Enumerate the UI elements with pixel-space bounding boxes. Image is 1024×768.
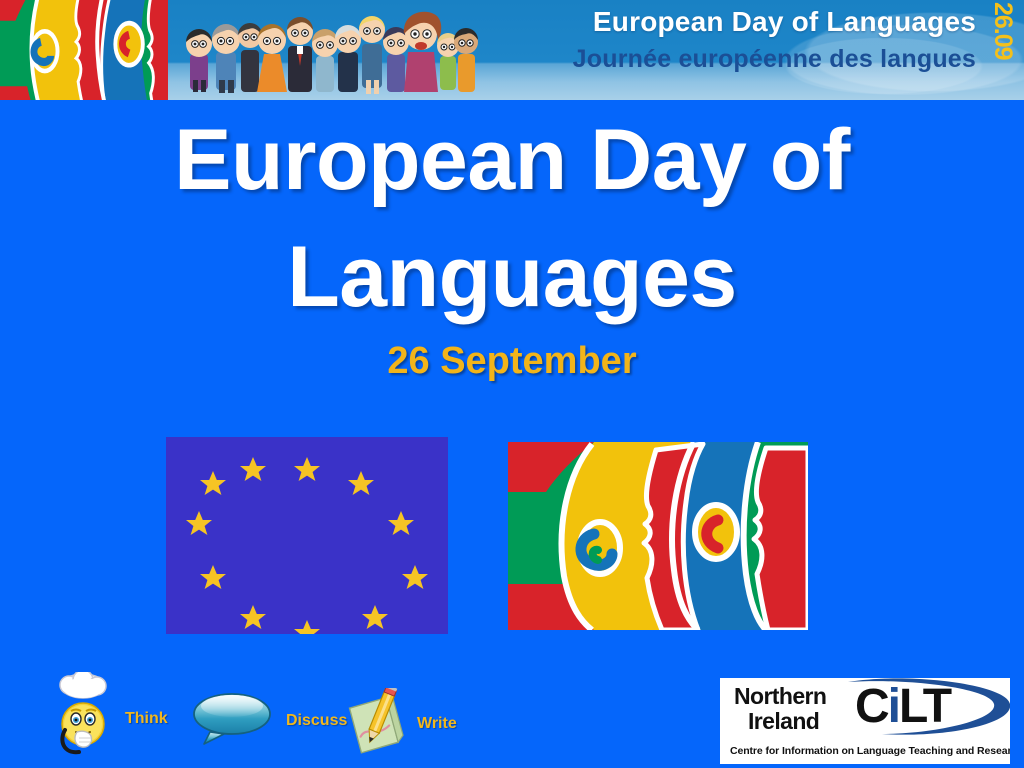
cilt-org-line-1: Northern (734, 683, 826, 709)
activity-discuss[interactable]: Discuss (190, 690, 347, 751)
cilt-org-line-2: Ireland (734, 709, 826, 734)
speech-bubble-icon (190, 690, 276, 751)
cilt-brand-lt: LT (899, 680, 950, 733)
activity-think-label: Think (125, 710, 168, 728)
banner-title-french: Journée européenne des langues (573, 45, 976, 74)
cilt-brand-c: C (855, 680, 888, 733)
page-subtitle-date: 26 September (0, 340, 1024, 383)
cilt-tagline: Centre for Information on Language Teach… (730, 745, 1010, 757)
page-title-line-1: European Day of (0, 102, 1024, 219)
european-day-of-languages-logo (503, 437, 813, 635)
activity-discuss-label: Discuss (286, 712, 347, 730)
cilt-northern-ireland-logo: Northern Ireland CiLT Centre for Informa… (720, 678, 1010, 764)
header-banner: European Day of Languages Journée europé… (0, 0, 1024, 100)
cilt-org-name: Northern Ireland (734, 684, 826, 734)
activity-write[interactable]: Write (345, 688, 457, 759)
activity-think[interactable]: Think (55, 672, 168, 765)
banner-edl-logo-icon (0, 0, 168, 100)
banner-title-english: European Day of Languages (593, 6, 976, 38)
european-union-flag (166, 437, 448, 634)
pencil-notepad-icon (345, 688, 407, 759)
thinking-face-icon (55, 672, 115, 765)
group-of-people-icon (178, 6, 478, 96)
cilt-brand-i: i (888, 680, 899, 733)
activity-write-label: Write (417, 715, 457, 733)
page-title: European Day of Languages (0, 102, 1024, 336)
page-title-line-2: Languages (0, 219, 1024, 336)
banner-date-vertical: 26.09 (984, 2, 1022, 98)
cilt-brand-word: CiLT (855, 681, 950, 733)
